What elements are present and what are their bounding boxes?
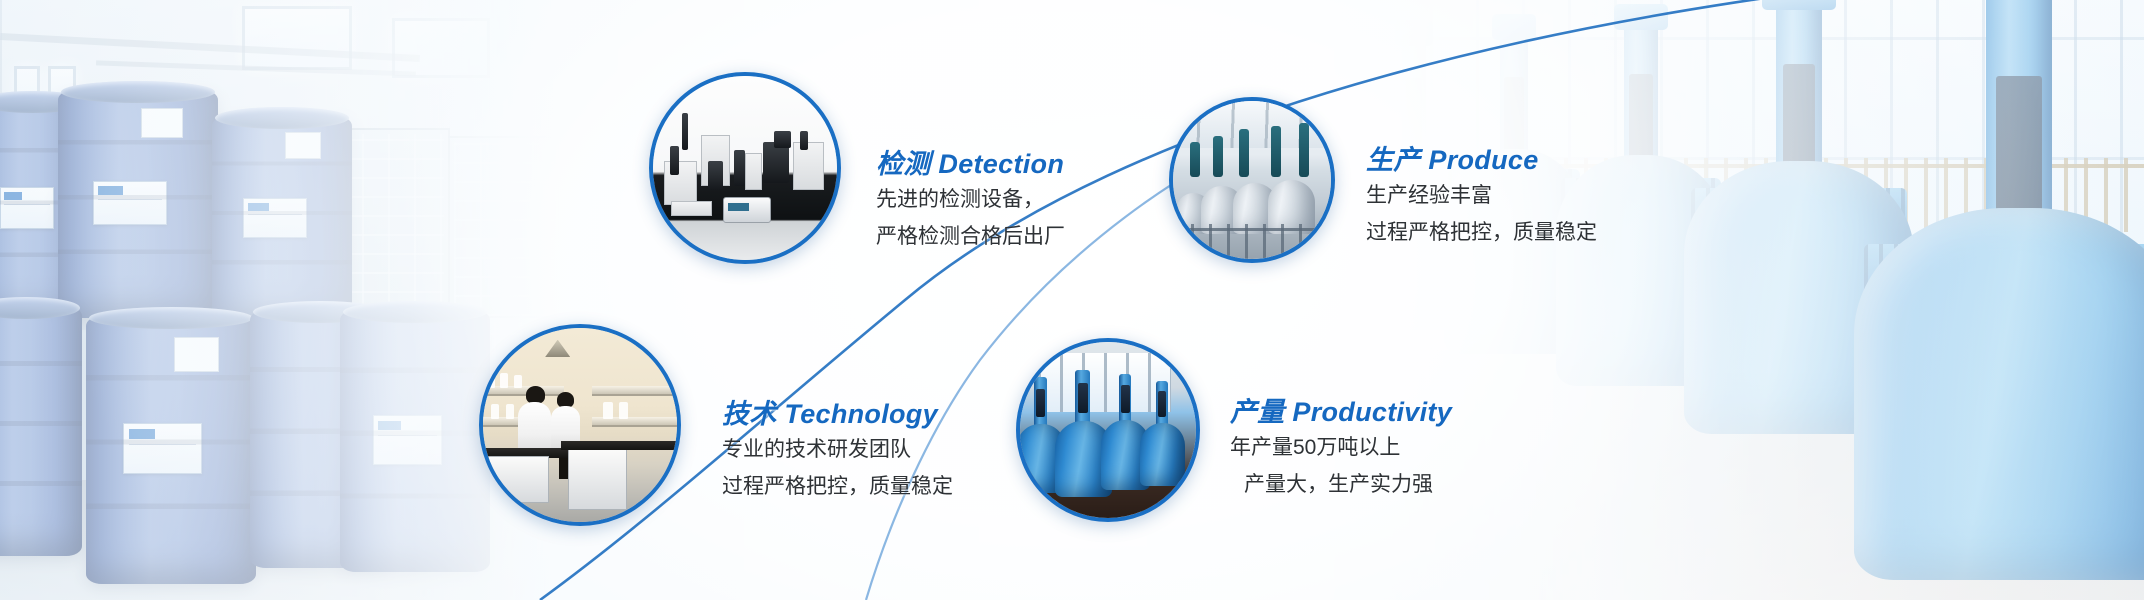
technology-photo-circle[interactable] — [479, 324, 681, 526]
productivity-text-block: 产量 Productivity 年产量50万吨以上 产量大，生产实力强 — [986, 396, 1426, 502]
produce-line-2: 过程严格把控，质量稳定 — [1366, 216, 1597, 250]
technology-text-block: 技术 Technology 专业的技术研发团队 过程严格把控，质量稳定 — [722, 398, 953, 504]
company-strengths-banner: 检测 Detection 先进的检测设备， 严格检测合格后出厂 生产 Produ… — [0, 0, 2144, 600]
productivity-title: 产量 Productivity — [986, 396, 1426, 428]
detection-text-block: 检测 Detection 先进的检测设备， 严格检测合格后出厂 — [876, 148, 1065, 254]
produce-line-1: 生产经验丰富 — [1366, 179, 1597, 213]
detection-lab-instruments-photo — [653, 76, 837, 260]
hall-fence — [1173, 224, 1331, 259]
detection-line-1: 先进的检测设备， — [876, 183, 1065, 217]
productivity-line-1: 年产量50万吨以上 — [986, 431, 1426, 465]
technology-line-1: 专业的技术研发团队 — [722, 433, 953, 467]
detection-photo-circle[interactable] — [649, 72, 841, 264]
technology-line-2: 过程严格把控，质量稳定 — [722, 470, 953, 504]
research-laboratory-photo — [483, 328, 677, 522]
produce-title: 生产 Produce — [1366, 144, 1597, 176]
produce-text-block: 生产 Produce 生产经验丰富 过程严格把控，质量稳定 — [1366, 144, 1597, 250]
productivity-line-2: 产量大，生产实力强 — [986, 468, 1426, 502]
detection-title: 检测 Detection — [876, 148, 1065, 180]
detection-line-2: 严格检测合格后出厂 — [876, 220, 1065, 254]
production-hall-tanks-photo — [1173, 101, 1331, 259]
technology-title: 技术 Technology — [722, 398, 953, 430]
produce-photo-circle[interactable] — [1169, 97, 1335, 263]
